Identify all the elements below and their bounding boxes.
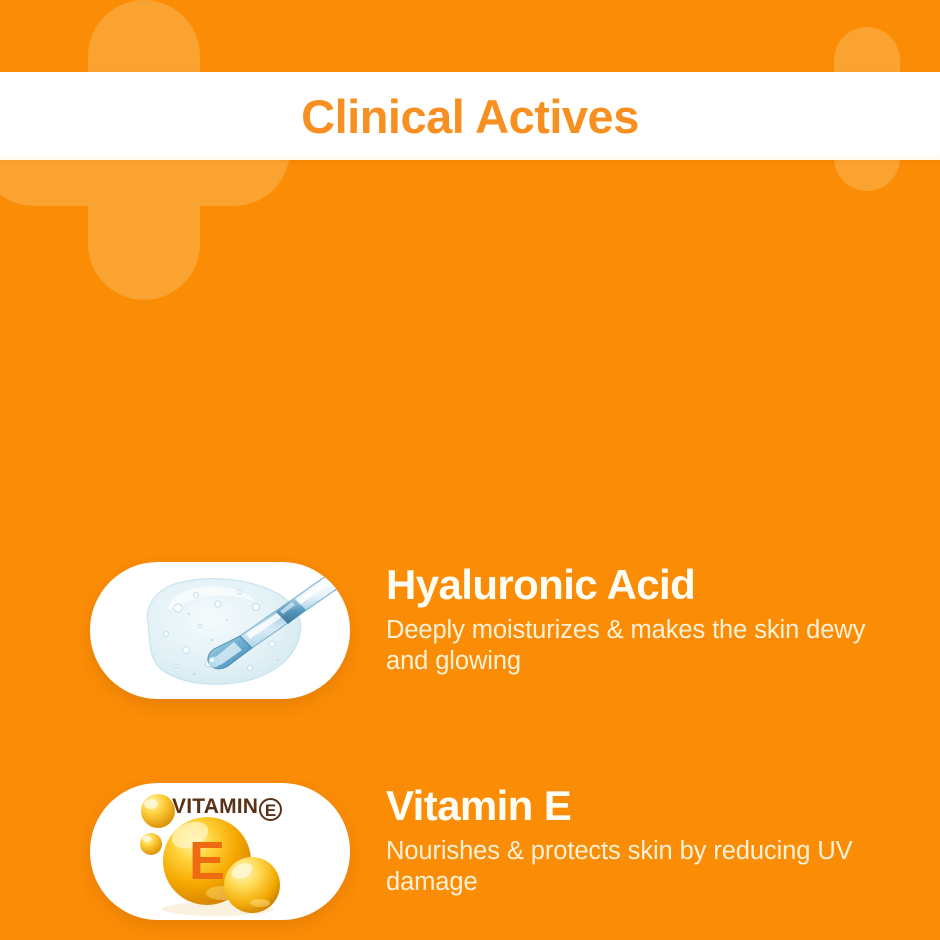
svg-text:E: E: [189, 831, 225, 891]
feature-item: E VITAMINE: [0, 783, 940, 920]
feature-heading: Hyaluronic Acid: [386, 563, 940, 607]
gel-droplet-pipette-icon: [90, 562, 350, 699]
feature-description: Deeply moisturizes & makes the skin dewy…: [386, 615, 886, 677]
poster-canvas: Clinical Actives: [0, 0, 940, 940]
feature-icon-card: [90, 562, 350, 699]
title-banner: Clinical Actives: [0, 72, 940, 160]
feature-item: Hyaluronic Acid Deeply moisturizes & mak…: [0, 562, 940, 699]
feature-icon-card: E VITAMINE: [90, 783, 350, 920]
vitamin-e-badge: E: [259, 798, 282, 821]
page-title: Clinical Actives: [301, 93, 639, 140]
feature-text-block: Hyaluronic Acid Deeply moisturizes & mak…: [386, 562, 940, 677]
feature-description: Nourishes & protects skin by reducing UV…: [386, 836, 886, 898]
vitamin-e-label: VITAMINE: [172, 796, 282, 821]
feature-heading: Vitamin E: [386, 784, 940, 828]
feature-text-block: Vitamin E Nourishes & protects skin by r…: [386, 783, 940, 898]
vitamin-e-label-text: VITAMIN: [172, 795, 258, 818]
